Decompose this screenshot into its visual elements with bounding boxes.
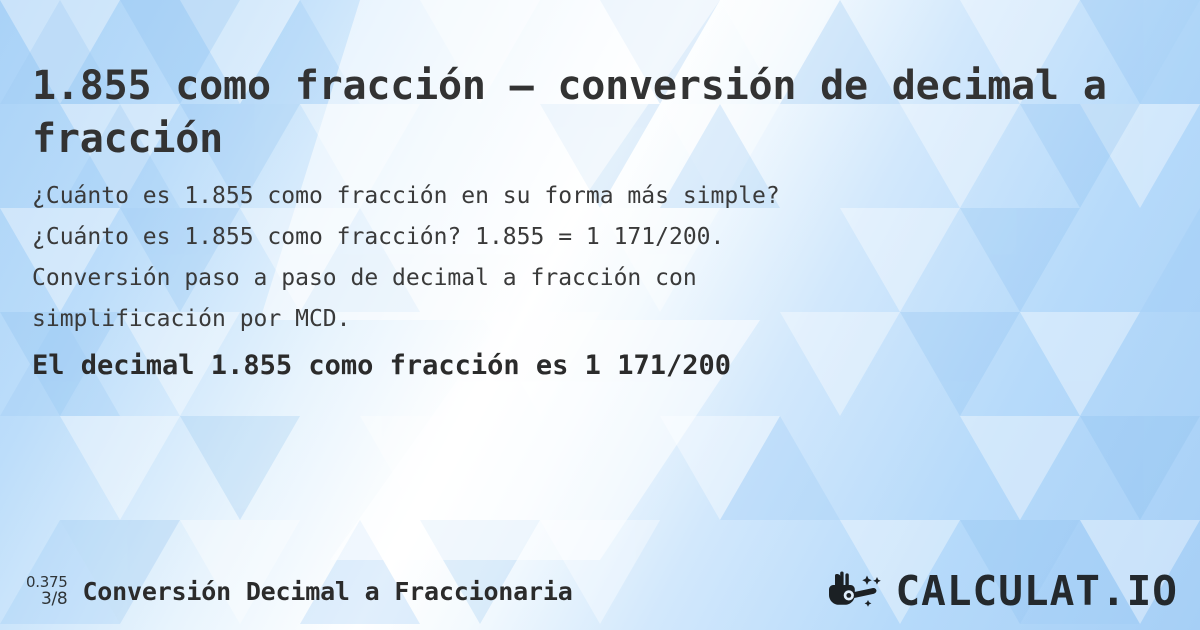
fraction-icon: 0.375 3/8 — [26, 575, 67, 608]
calculatio-wordmark: CALCULAT.IO — [895, 571, 1178, 612]
page-title: 1.855 como fracción – conversión de deci… — [32, 60, 1142, 166]
answer-statement: El decimal 1.855 como fracción es 1 171/… — [32, 347, 731, 385]
page-title-line-1: 1.855 como fracción – conversión de — [32, 63, 868, 109]
footer-brand: 0.375 3/8 Conversión Decimal a Fracciona… — [26, 575, 573, 608]
calculatio-logo[interactable]: CALCULAT.IO — [827, 570, 1178, 612]
content-area: 1.855 como fracción – conversión de deci… — [0, 0, 1200, 630]
description-line-4: simplificación por MCD. — [32, 299, 1142, 340]
magic-wand-hand-icon — [827, 570, 889, 612]
og-image-canvas: 1.855 como fracción – conversión de deci… — [0, 0, 1200, 630]
description-line-2: ¿Cuánto es 1.855 como fracción? 1.855 = … — [32, 217, 1142, 258]
fraction-icon-fraction: 3/8 — [41, 591, 67, 608]
description-block: ¿Cuánto es 1.855 como fracción en su for… — [32, 176, 1142, 340]
footer-section-title: Conversión Decimal a Fraccionaria — [82, 577, 572, 606]
footer: 0.375 3/8 Conversión Decimal a Fracciona… — [0, 554, 1200, 630]
description-line-3: Conversión paso a paso de decimal a frac… — [32, 258, 1142, 299]
description-line-1: ¿Cuánto es 1.855 como fracción en su for… — [32, 176, 1142, 217]
